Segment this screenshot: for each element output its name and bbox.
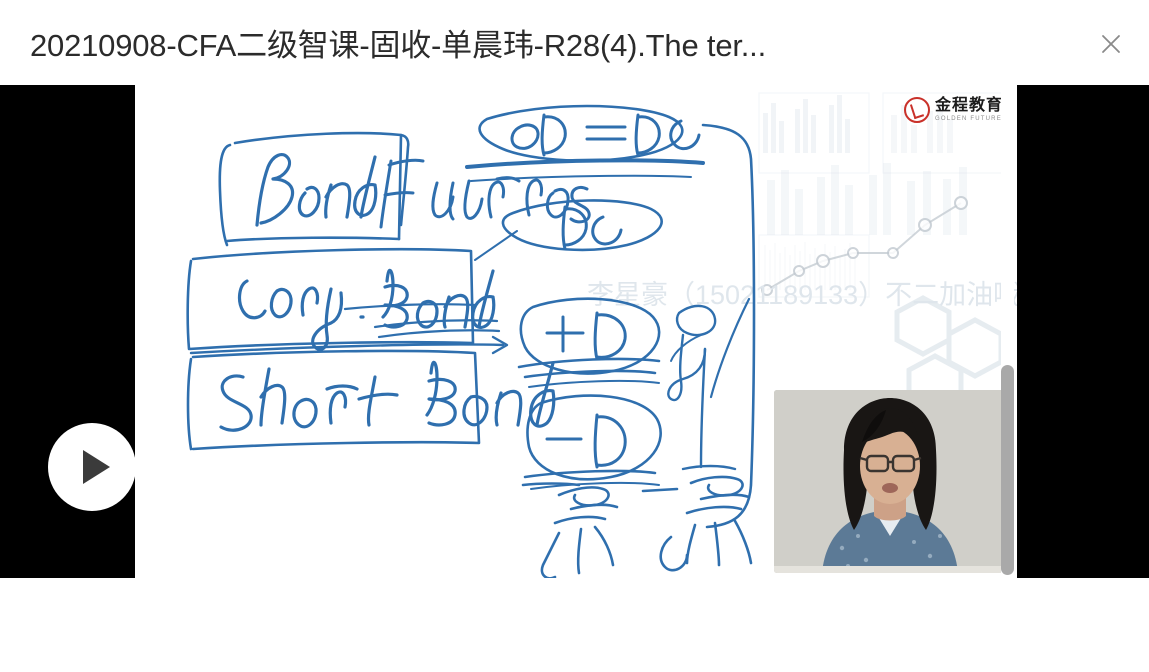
close-icon: [1098, 31, 1124, 57]
ink-bond-box: [220, 133, 408, 245]
background-infographic: [757, 85, 1017, 385]
ink-right-bracket: [703, 125, 754, 527]
ink-duration-top: [480, 106, 699, 161]
background-line-chart: [767, 203, 961, 290]
brand-logo: 金程教育 GOLDEN FUTURE: [904, 97, 1003, 123]
letterbox-right: [1017, 85, 1149, 578]
play-icon: [83, 450, 110, 484]
ink-chinese-note: [523, 477, 751, 578]
title-bar: 20210908-CFA二级智课-固收-单晨玮-R28(4).The ter..…: [0, 0, 1149, 85]
ink-long-bond-word: [240, 270, 499, 349]
brand-name: 金程教育: [935, 98, 1003, 114]
brand-subtitle: GOLDEN FUTURE: [935, 116, 1003, 122]
watermark-text: 李星豪（15021189133）不二加油哦: [587, 273, 1017, 312]
instructor-webcam[interactable]: [774, 390, 1006, 573]
brand-mark-icon: [904, 97, 930, 123]
ink-minus-d: [525, 396, 661, 489]
ink-short-bond-word: [221, 362, 554, 430]
ink-short-bond-box: [188, 351, 479, 449]
ink-futures-word: [381, 160, 589, 227]
video-player-stage[interactable]: 金程教育 GOLDEN FUTURE 李星豪（15021189133）不二加油哦: [0, 85, 1149, 578]
ink-plus-d: [519, 299, 659, 387]
ink-bond-word: [257, 155, 376, 225]
webcam-image: [774, 390, 1006, 573]
ink-figure-squiggle: [668, 299, 749, 469]
close-button[interactable]: [1095, 28, 1127, 60]
page-bottom-area: [0, 578, 1149, 672]
slide-content: 金程教育 GOLDEN FUTURE 李星豪（15021189133）不二加油哦: [135, 85, 1017, 578]
play-button[interactable]: [48, 423, 136, 511]
scrollbar-thumb[interactable]: [1001, 365, 1014, 575]
ink-duration-mid: [475, 200, 662, 260]
brand-text: 金程教育 GOLDEN FUTURE: [935, 98, 1003, 122]
video-player-window: 20210908-CFA二级智课-固收-单晨玮-R28(4).The ter..…: [0, 0, 1149, 672]
page-title: 20210908-CFA二级智课-固收-单晨玮-R28(4).The ter..…: [30, 20, 766, 65]
ink-long-bond-box: [188, 249, 473, 349]
